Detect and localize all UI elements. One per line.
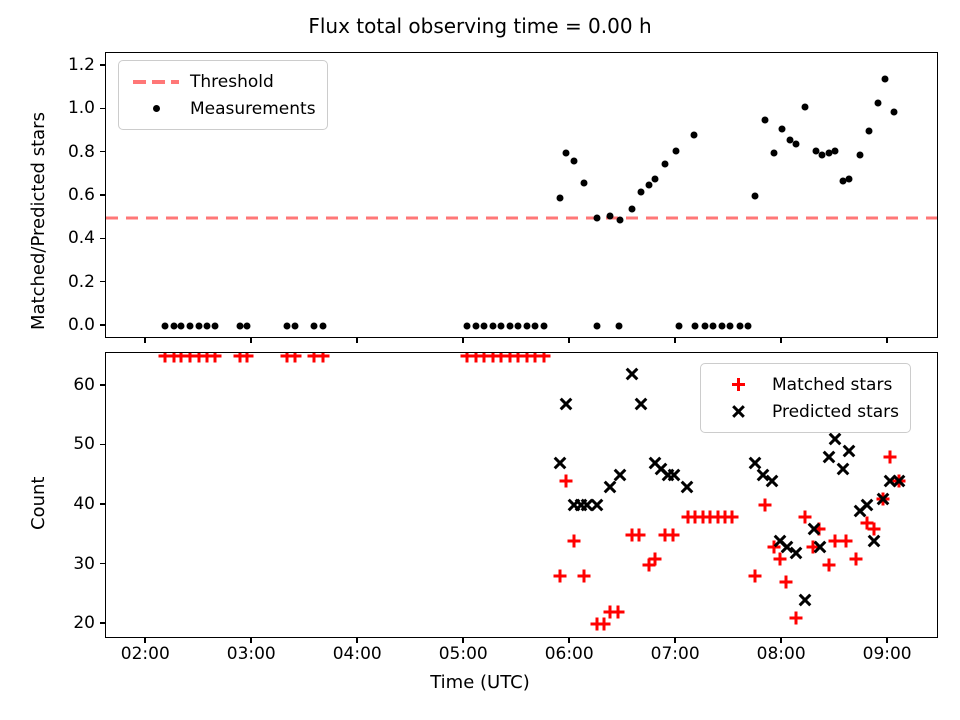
predicted-star-point <box>868 534 881 547</box>
measurement-point <box>170 323 177 330</box>
measurement-point <box>489 323 496 330</box>
matched-star-point <box>774 552 787 565</box>
xtick-mark <box>144 338 146 343</box>
top-ytick-1.2: 1.2 <box>68 55 95 75</box>
measurement-point <box>607 212 614 219</box>
dot-marker-icon <box>128 105 184 112</box>
measurement-point <box>540 323 547 330</box>
xtick-0900: 09:00 <box>863 644 912 664</box>
measurement-point <box>571 158 578 165</box>
predicted-star-point <box>829 433 842 446</box>
legend-item-measurements: Measurements <box>128 95 316 122</box>
xtick-0500: 05:00 <box>439 644 488 664</box>
predicted-star-point <box>625 367 638 380</box>
measurement-point <box>593 214 600 221</box>
xtick-mark <box>674 338 676 343</box>
legend-label-measurements: Measurements <box>184 99 316 119</box>
measurement-point <box>881 76 888 83</box>
measurement-point <box>710 323 717 330</box>
measurement-point <box>676 323 683 330</box>
measurement-point <box>593 323 600 330</box>
measurement-point <box>506 323 513 330</box>
measurement-point <box>291 323 298 330</box>
xtick-mark <box>780 638 782 643</box>
top-ytick-0.2: 0.2 <box>68 272 95 292</box>
plus-marker-icon <box>710 378 766 391</box>
measurement-point <box>779 125 786 132</box>
matched-star-point <box>884 451 897 464</box>
legend-label-threshold: Threshold <box>184 72 274 92</box>
xtick-mark <box>144 638 146 643</box>
legend-label-predicted-stars: Predicted stars <box>766 402 899 422</box>
measurement-point <box>792 141 799 148</box>
measurement-point <box>718 323 725 330</box>
measurement-point <box>645 182 652 189</box>
predicted-star-point <box>614 469 627 482</box>
predicted-star-point <box>836 463 849 476</box>
xtick-mark <box>356 338 358 343</box>
measurement-point <box>727 323 734 330</box>
figure-title: Flux total observing time = 0.00 h <box>0 14 960 38</box>
xtick-0600: 06:00 <box>545 644 594 664</box>
predicted-star-point <box>860 498 873 511</box>
measurement-point <box>701 323 708 330</box>
xtick-mark <box>568 338 570 343</box>
top-ytick-0.6: 0.6 <box>68 185 95 205</box>
matched-star-point <box>780 576 793 589</box>
xtick-mark <box>250 338 252 343</box>
measurement-point <box>845 175 852 182</box>
predicted-star-point <box>807 522 820 535</box>
measurement-point <box>615 323 622 330</box>
matched-star-point <box>666 528 679 541</box>
bottom-ytick-60: 60 <box>73 375 95 395</box>
measurement-point <box>651 175 658 182</box>
measurement-point <box>866 128 873 135</box>
bottom-ytick-20: 20 <box>73 613 95 633</box>
xtick-mark <box>886 638 888 643</box>
matched-star-point <box>568 534 581 547</box>
measurement-point <box>532 323 539 330</box>
xtick-mark <box>356 638 358 643</box>
measurement-point <box>310 323 317 330</box>
xtick-0700: 07:00 <box>651 644 700 664</box>
measurement-point <box>638 188 645 195</box>
measurement-point <box>481 323 488 330</box>
measurement-point <box>203 323 210 330</box>
measurement-point <box>832 147 839 154</box>
xtick-0800: 08:00 <box>757 644 806 664</box>
measurement-point <box>770 149 777 156</box>
measurement-point <box>472 323 479 330</box>
xtick-mark <box>886 338 888 343</box>
matched-star-point <box>559 475 572 488</box>
top-ytick-0.4: 0.4 <box>68 228 95 248</box>
xtick-0400: 04:00 <box>333 644 382 664</box>
measurement-point <box>691 132 698 139</box>
matched-star-point <box>789 612 802 625</box>
measurement-point <box>751 193 758 200</box>
xtick-mark <box>250 638 252 643</box>
measurement-point <box>556 195 563 202</box>
legend-item-matched-stars: Matched stars <box>710 371 899 398</box>
x-axis-label: Time (UTC) <box>0 672 960 693</box>
bottom-panel-ylabel: Count <box>28 477 49 530</box>
matched-star-point <box>748 570 761 583</box>
xtick-mark <box>568 638 570 643</box>
matched-star-point <box>822 558 835 571</box>
matched-star-point <box>209 353 222 362</box>
xtick-0300: 03:00 <box>227 644 276 664</box>
predicted-star-point <box>892 475 905 488</box>
predicted-star-point <box>635 397 648 410</box>
measurement-point <box>692 323 699 330</box>
matched-star-point <box>759 498 772 511</box>
predicted-star-point <box>822 451 835 464</box>
predicted-star-point <box>668 469 681 482</box>
xtick-mark <box>780 338 782 343</box>
top-ytick-1.0: 1.0 <box>68 98 95 118</box>
measurement-point <box>661 160 668 167</box>
measurement-point <box>673 147 680 154</box>
measurement-point <box>186 323 193 330</box>
measurement-point <box>464 323 471 330</box>
matched-star-point <box>611 606 624 619</box>
top-ytick-0.0: 0.0 <box>68 315 95 335</box>
measurement-point <box>523 323 530 330</box>
matched-star-point <box>288 353 301 362</box>
matched-star-point <box>648 552 661 565</box>
matched-star-point <box>726 510 739 523</box>
measurement-point <box>891 108 898 115</box>
predicted-star-point <box>553 457 566 470</box>
predicted-star-point <box>559 397 572 410</box>
bottom-ytick-30: 30 <box>73 554 95 574</box>
top-panel-legend: Threshold Measurements <box>118 60 328 130</box>
measurement-point <box>762 117 769 124</box>
measurement-point <box>802 104 809 111</box>
predicted-star-point <box>842 445 855 458</box>
cross-marker-icon <box>710 405 766 418</box>
predicted-star-point <box>765 475 778 488</box>
matched-star-point <box>553 570 566 583</box>
top-panel-ylabel: Matched/Predicted stars <box>28 112 49 330</box>
measurement-point <box>243 323 250 330</box>
xtick-mark <box>462 638 464 643</box>
bottom-ytick-40: 40 <box>73 494 95 514</box>
matched-star-point <box>633 528 646 541</box>
measurement-point <box>580 180 587 187</box>
matched-star-point <box>240 353 253 362</box>
measurement-point <box>856 151 863 158</box>
xtick-mark <box>462 338 464 343</box>
predicted-star-point <box>789 546 802 559</box>
measurement-point <box>212 323 219 330</box>
predicted-star-point <box>799 594 812 607</box>
measurement-point <box>515 323 522 330</box>
measurement-point <box>236 323 243 330</box>
xtick-mark <box>674 638 676 643</box>
measurement-point <box>628 206 635 213</box>
predicted-star-point <box>590 498 603 511</box>
measurement-point <box>874 99 881 106</box>
measurement-point <box>162 323 169 330</box>
legend-item-threshold: Threshold <box>128 68 316 95</box>
measurement-point <box>736 323 743 330</box>
bottom-ytick-50: 50 <box>73 434 95 454</box>
legend-item-predicted-stars: Predicted stars <box>710 398 899 425</box>
matched-star-point <box>598 618 611 631</box>
top-ytick-0.8: 0.8 <box>68 142 95 162</box>
bottom-panel-legend: Matched stars Predicted stars <box>700 363 911 433</box>
predicted-star-point <box>876 492 889 505</box>
legend-label-matched-stars: Matched stars <box>766 375 892 395</box>
figure-root: Flux total observing time = 0.00 h Match… <box>0 0 960 720</box>
dashed-line-icon <box>128 80 184 84</box>
matched-star-point <box>577 570 590 583</box>
measurement-point <box>284 323 291 330</box>
xtick-0200: 02:00 <box>121 644 170 664</box>
matched-star-point <box>317 353 330 362</box>
matched-star-point <box>850 552 863 565</box>
threshold-line <box>106 216 937 219</box>
predicted-star-point <box>604 481 617 494</box>
measurement-point <box>745 323 752 330</box>
predicted-star-point <box>814 540 827 553</box>
measurement-point <box>196 323 203 330</box>
matched-star-point <box>537 353 550 362</box>
measurement-point <box>320 323 327 330</box>
matched-star-point <box>839 534 852 547</box>
predicted-star-point <box>680 481 693 494</box>
measurement-point <box>617 216 624 223</box>
measurement-point <box>178 323 185 330</box>
measurement-point <box>498 323 505 330</box>
measurement-point <box>562 149 569 156</box>
